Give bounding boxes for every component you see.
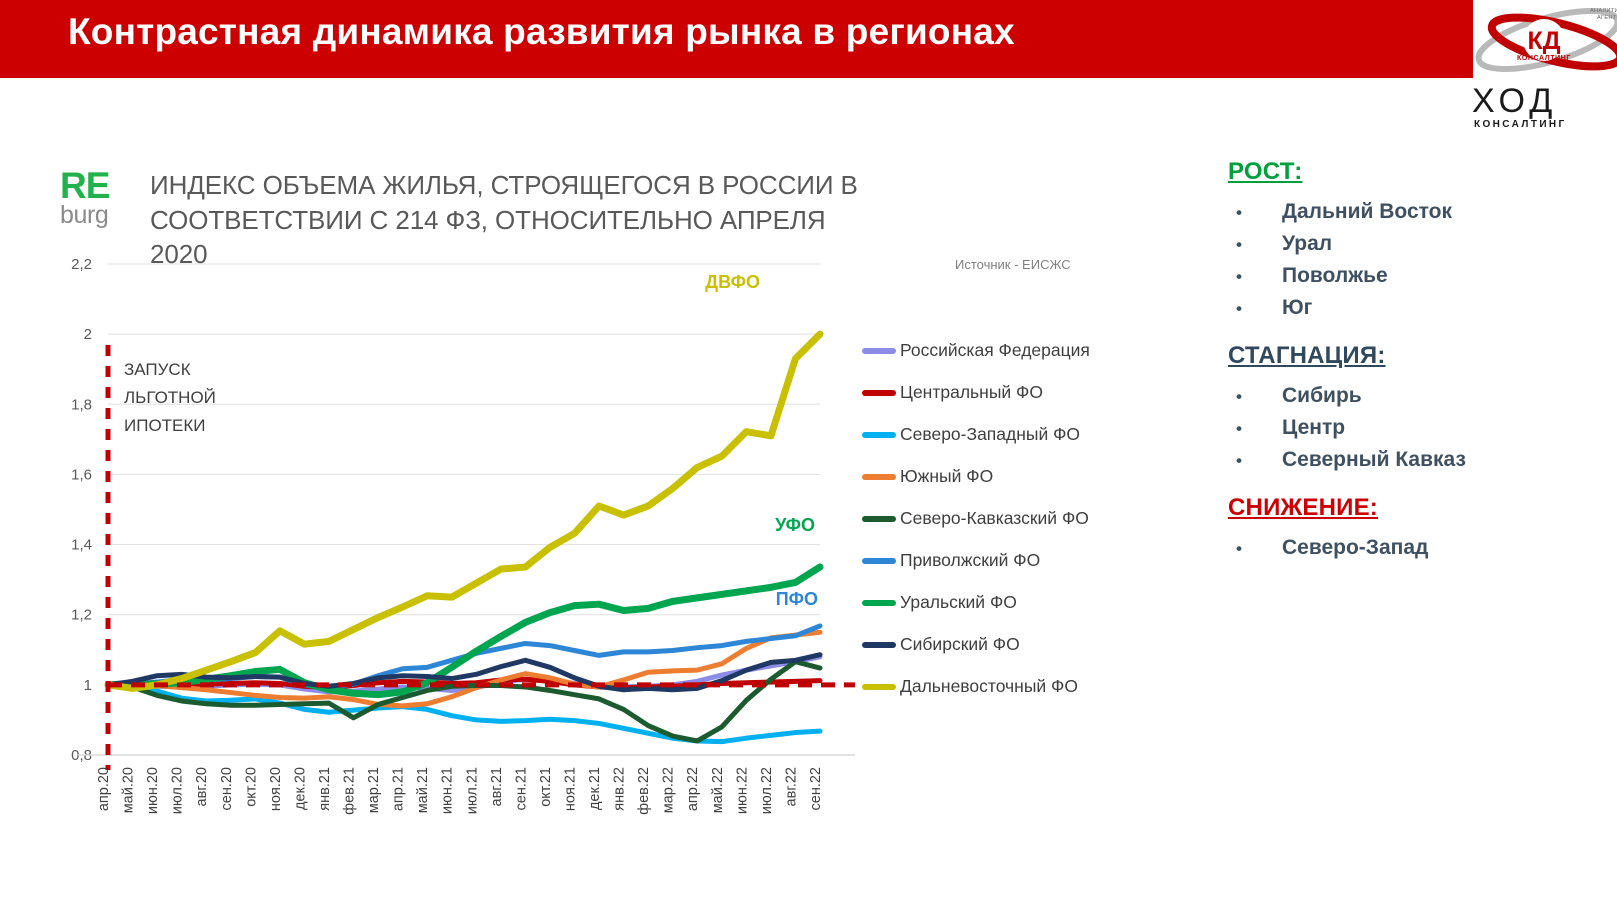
x-axis-tick-label: апр.21 xyxy=(391,767,407,811)
spacer xyxy=(1228,528,1608,536)
y-axis-tick-label: 1,8 xyxy=(71,396,92,413)
x-axis-tick-labels: апр.20май.20июн.20июл.20авг.20сен.20окт.… xyxy=(96,767,824,815)
legend-color-swatch xyxy=(862,432,896,438)
x-axis-tick-label: сен.21 xyxy=(513,767,529,810)
legend-color-swatch xyxy=(862,558,896,564)
legend-item[interactable]: Приволжский ФО xyxy=(862,540,1122,582)
panel-section-title: РОСТ: xyxy=(1228,158,1608,186)
svg-text:АНАЛИТИЧЕСКОЕ: АНАЛИТИЧЕСКОЕ xyxy=(1590,8,1617,14)
panel-list-item: •Сибирь xyxy=(1228,384,1608,408)
spacer xyxy=(1228,480,1608,494)
legend-item-label: Северо-Западный ФО xyxy=(900,426,1080,444)
panel-list-item: •Юг xyxy=(1228,296,1608,320)
legend-color-swatch xyxy=(862,474,896,480)
annotation-text-line: ИПОТЕКИ xyxy=(124,416,206,435)
x-axis-tick-label: фев.21 xyxy=(342,767,358,815)
hod-logo-word: ХОД xyxy=(1472,84,1557,121)
panel-list-item-label: Сибирь xyxy=(1282,384,1362,408)
legend-item[interactable]: Российская Федерация xyxy=(862,330,1122,372)
x-axis-tick-label: июн.20 xyxy=(145,767,161,814)
legend-color-swatch xyxy=(862,390,896,396)
panel-list-item: •Северо-Запад xyxy=(1228,536,1608,560)
panel-list-item: •Центр xyxy=(1228,416,1608,440)
spacer xyxy=(1228,376,1608,384)
legend-item[interactable]: Уральский ФО xyxy=(862,582,1122,624)
summary-panel: РОСТ:•Дальний Восток•Урал•Поволжье•ЮгСТА… xyxy=(1228,158,1608,582)
legend-item[interactable]: Южный ФО xyxy=(862,456,1122,498)
y-axis-tick-label: 2,2 xyxy=(71,256,92,273)
panel-list-item-label: Центр xyxy=(1282,416,1345,440)
bullet-icon: • xyxy=(1228,451,1282,471)
legend-item-label: Российская Федерация xyxy=(900,342,1090,360)
reburg-logo: RE burg xyxy=(60,168,142,228)
chart-legend: Российская ФедерацияЦентральный ФОСеверо… xyxy=(862,330,1122,708)
panel-list-item-label: Урал xyxy=(1282,232,1332,256)
annotation-text-line: ЗАПУСК xyxy=(124,360,191,379)
legend-color-swatch xyxy=(862,684,896,690)
bullet-icon: • xyxy=(1228,235,1282,255)
hod-consulting-logo: ХОД КОНСАЛТИНГ xyxy=(1470,84,1617,138)
bullet-icon: • xyxy=(1228,299,1282,319)
legend-item[interactable]: Центральный ФО xyxy=(862,372,1122,414)
legend-item[interactable]: Сибирский ФО xyxy=(862,624,1122,666)
mortgage-launch-annotation: ЗАПУСКЛЬГОТНОЙИПОТЕКИ xyxy=(124,360,216,435)
spacer xyxy=(1228,328,1608,342)
legend-item[interactable]: Северо-Кавказский ФО xyxy=(862,498,1122,540)
legend-item-label: Северо-Кавказский ФО xyxy=(900,510,1089,528)
x-axis-tick-label: май.20 xyxy=(121,767,137,813)
x-axis-tick-label: ноя.20 xyxy=(268,767,284,811)
x-axis-tick-label: май.21 xyxy=(415,767,431,813)
x-axis-tick-label: авг.21 xyxy=(489,767,505,806)
series-callout-label: ДВФО xyxy=(705,272,760,292)
legend-item-label: Приволжский ФО xyxy=(900,552,1040,570)
legend-color-swatch xyxy=(862,600,896,606)
x-axis-tick-label: сен.20 xyxy=(219,767,235,810)
y-axis-tick-label: 1,4 xyxy=(71,537,92,554)
panel-list-item: •Северный Кавказ xyxy=(1228,448,1608,472)
x-axis-tick-label: дек.21 xyxy=(587,767,603,810)
x-axis-tick-label: окт.21 xyxy=(538,767,554,807)
y-axis-tick-label: 1,6 xyxy=(71,466,92,483)
x-axis-tick-label: июл.22 xyxy=(759,767,775,814)
legend-item-label: Южный ФО xyxy=(900,468,993,486)
svg-text:КОНСАЛТИНГ: КОНСАЛТИНГ xyxy=(1517,55,1571,62)
x-axis-tick-label: апр.20 xyxy=(96,767,112,811)
series-callout-label: УФО xyxy=(775,515,815,535)
x-axis-tick-label: ноя.21 xyxy=(562,767,578,811)
x-axis-tick-label: мар.22 xyxy=(661,767,677,813)
spacer xyxy=(1228,192,1608,200)
bullet-icon: • xyxy=(1228,267,1282,287)
y-axis-tick-label: 2 xyxy=(84,326,92,343)
x-axis-tick-label: май.22 xyxy=(710,767,726,813)
x-axis-tick-label: июн.21 xyxy=(440,767,456,814)
annotation-text-line: ЛЬГОТНОЙ xyxy=(124,388,216,407)
series-callout-label: ПФО xyxy=(776,589,818,609)
bullet-icon: • xyxy=(1228,387,1282,407)
x-axis-tick-label: апр.22 xyxy=(685,767,701,811)
page-title: Контрастная динамика развития рынка в ре… xyxy=(68,11,1015,53)
chart-source-note: Источник - ЕИСЖС xyxy=(955,257,1071,272)
bullet-icon: • xyxy=(1228,539,1282,559)
slide-root: Контрастная динамика развития рынка в ре… xyxy=(0,0,1617,907)
x-axis-tick-label: янв.22 xyxy=(612,767,628,811)
y-axis-tick-label: 1,2 xyxy=(71,607,92,624)
panel-list-item-label: Северный Кавказ xyxy=(1282,448,1466,472)
panel-list-item-label: Северо-Запад xyxy=(1282,536,1428,560)
legend-item[interactable]: Дальневосточный ФО xyxy=(862,666,1122,708)
x-axis-tick-label: окт.20 xyxy=(243,767,259,807)
panel-list-item: •Урал xyxy=(1228,232,1608,256)
legend-item-label: Уральский ФО xyxy=(900,594,1017,612)
bullet-icon: • xyxy=(1228,203,1282,223)
panel-section-title: СТАГНАЦИЯ: xyxy=(1228,342,1608,370)
legend-item[interactable]: Северо-Западный ФО xyxy=(862,414,1122,456)
header-banner: Контрастная динамика развития рынка в ре… xyxy=(0,0,1473,78)
legend-color-swatch xyxy=(862,348,896,354)
kd-agency-logo: КД КОНСАЛТИНГ АНАЛИТИЧЕСКОЕ АГЕНТСТВО xyxy=(1470,0,1617,80)
panel-list-item-label: Поволжье xyxy=(1282,264,1388,288)
legend-item-label: Сибирский ФО xyxy=(900,636,1020,654)
x-axis-tick-label: июл.21 xyxy=(464,767,480,814)
x-axis-tick-label: янв.21 xyxy=(317,767,333,811)
svg-text:АГЕНТСТВО: АГЕНТСТВО xyxy=(1597,15,1617,21)
series-callouts: ДВФОУФОПФО xyxy=(705,272,818,609)
x-axis-tick-label: июн.22 xyxy=(734,767,750,814)
x-axis-tick-label: фев.22 xyxy=(636,767,652,815)
legend-color-swatch xyxy=(862,516,896,522)
x-axis-tick-label: дек.20 xyxy=(292,767,308,810)
reburg-logo-bottom: burg xyxy=(60,203,142,228)
x-axis-tick-label: авг.20 xyxy=(194,767,210,806)
panel-list-item-label: Юг xyxy=(1282,296,1312,320)
legend-color-swatch xyxy=(862,642,896,648)
y-axis-tick-label: 1 xyxy=(84,677,92,694)
panel-list-item-label: Дальний Восток xyxy=(1282,200,1452,224)
spacer xyxy=(1228,568,1608,582)
hod-logo-subtitle: КОНСАЛТИНГ xyxy=(1474,119,1567,130)
svg-text:КД: КД xyxy=(1527,27,1560,55)
legend-item-label: Центральный ФО xyxy=(900,384,1043,402)
bullet-icon: • xyxy=(1228,419,1282,439)
line-chart: 0,811,21,41,61,822,2ЗАПУСКЛЬГОТНОЙИПОТЕК… xyxy=(0,250,860,850)
x-axis-tick-label: авг.22 xyxy=(783,767,799,806)
legend-item-label: Дальневосточный ФО xyxy=(900,678,1078,696)
x-axis-tick-label: июл.20 xyxy=(170,767,186,814)
panel-section-title: СНИЖЕНИЕ: xyxy=(1228,494,1608,522)
panel-list-item: •Дальний Восток xyxy=(1228,200,1608,224)
x-axis-tick-label: сен.22 xyxy=(808,767,824,810)
chart-canvas: 0,811,21,41,61,822,2ЗАПУСКЛЬГОТНОЙИПОТЕК… xyxy=(0,250,860,850)
x-axis-tick-label: мар.21 xyxy=(366,767,382,813)
panel-list-item: •Поволжье xyxy=(1228,264,1608,288)
reburg-logo-top: RE xyxy=(60,168,142,203)
